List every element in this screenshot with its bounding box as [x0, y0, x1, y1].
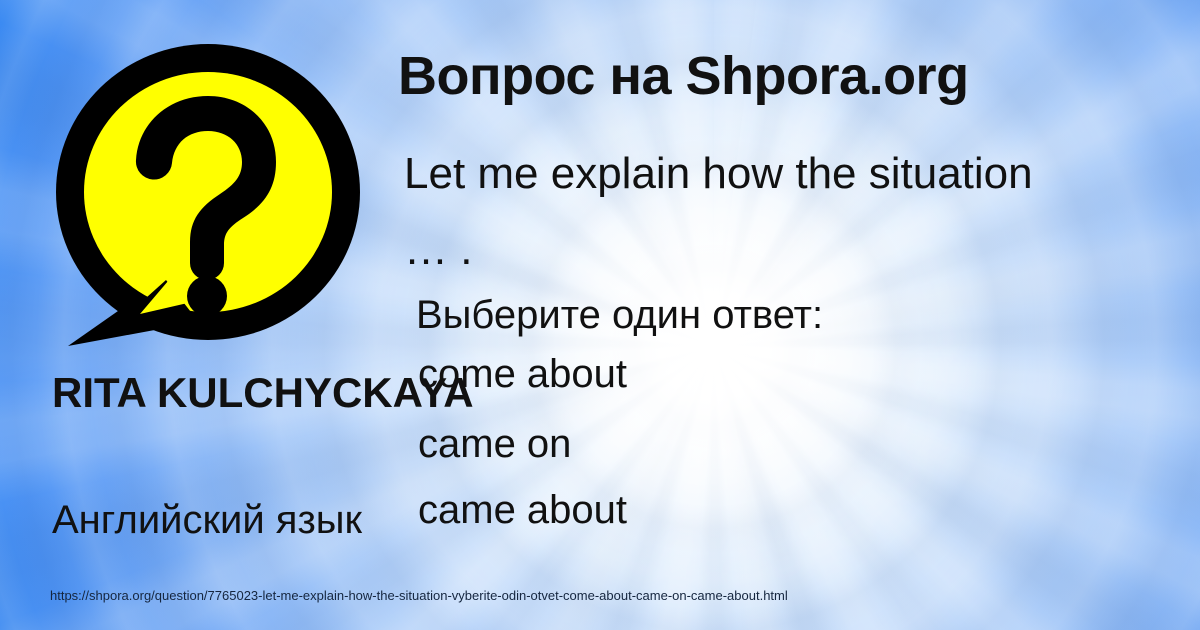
choose-one-answer-label: Выберите один ответ: [416, 293, 823, 338]
subject-label: Английский язык [52, 498, 362, 543]
page-title: Вопрос на Shpora.org [398, 48, 969, 105]
question-text-line-1: Let me explain how the situation [404, 152, 1033, 196]
question-speech-bubble-icon [48, 44, 368, 362]
page-url[interactable]: https://shpora.org/question/7765023-let-… [50, 588, 788, 603]
shpora-question-card: Вопрос на Shpora.org Let me explain how … [0, 0, 1200, 630]
answer-option[interactable]: came on [418, 422, 571, 467]
question-text-line-2: … . [404, 228, 472, 272]
author-name: RITA KULCHYCKAYA [52, 372, 532, 415]
answer-option[interactable]: came about [418, 488, 627, 533]
